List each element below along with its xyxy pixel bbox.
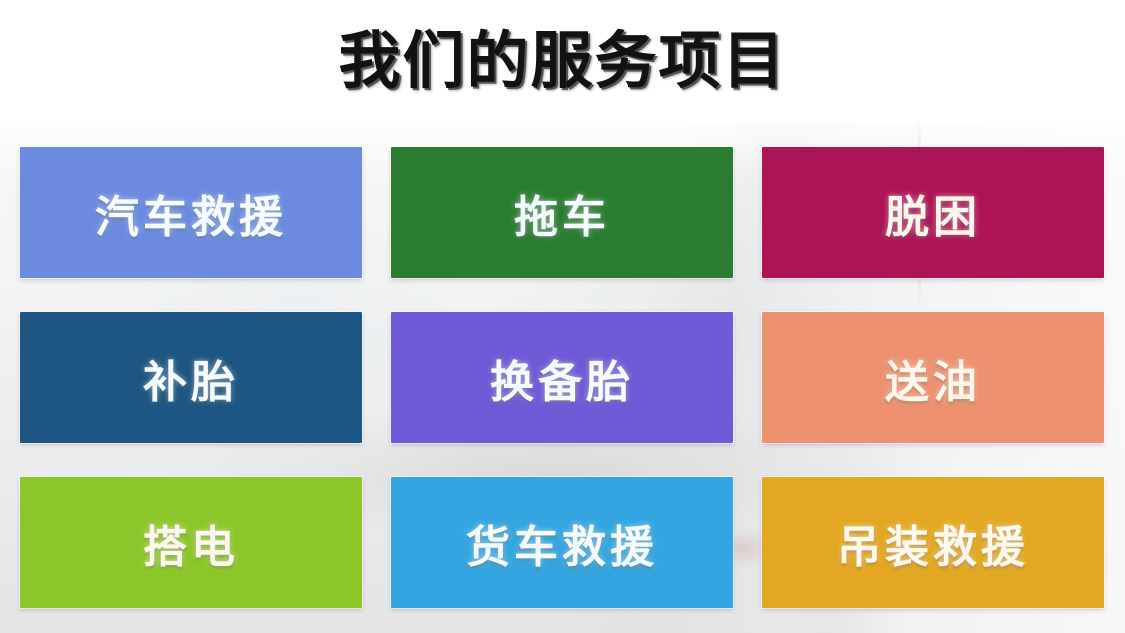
service-tile-label: 脱困 bbox=[885, 181, 981, 245]
service-grid: 汽车救援拖车脱困补胎换备胎送油搭电货车救援吊装救援 bbox=[20, 147, 1103, 615]
service-tile[interactable]: 送油 bbox=[762, 312, 1104, 443]
service-tile-label: 补胎 bbox=[143, 346, 239, 410]
service-tile[interactable]: 拖车 bbox=[391, 147, 733, 278]
service-poster: 我们的服务项目 汽车救援拖车脱困补胎换备胎送油搭电货车救援吊装救援 bbox=[0, 0, 1125, 633]
service-tile[interactable]: 脱困 bbox=[762, 147, 1104, 278]
service-tile[interactable]: 吊装救援 bbox=[762, 477, 1104, 608]
service-tile[interactable]: 汽车救援 bbox=[20, 147, 362, 278]
service-tile-label: 吊装救援 bbox=[837, 511, 1029, 575]
service-tile[interactable]: 货车救援 bbox=[391, 477, 733, 608]
service-tile-label: 换备胎 bbox=[490, 346, 634, 410]
service-tile-label: 货车救援 bbox=[466, 511, 658, 575]
service-tile[interactable]: 换备胎 bbox=[391, 312, 733, 443]
service-tile-label: 拖车 bbox=[514, 181, 610, 245]
service-tile-label: 搭电 bbox=[143, 511, 239, 575]
service-tile-label: 汽车救援 bbox=[95, 181, 287, 245]
service-tile[interactable]: 搭电 bbox=[20, 477, 362, 608]
service-tile-label: 送油 bbox=[885, 346, 981, 410]
service-tile[interactable]: 补胎 bbox=[20, 312, 362, 443]
page-title: 我们的服务项目 bbox=[0, 24, 1125, 97]
